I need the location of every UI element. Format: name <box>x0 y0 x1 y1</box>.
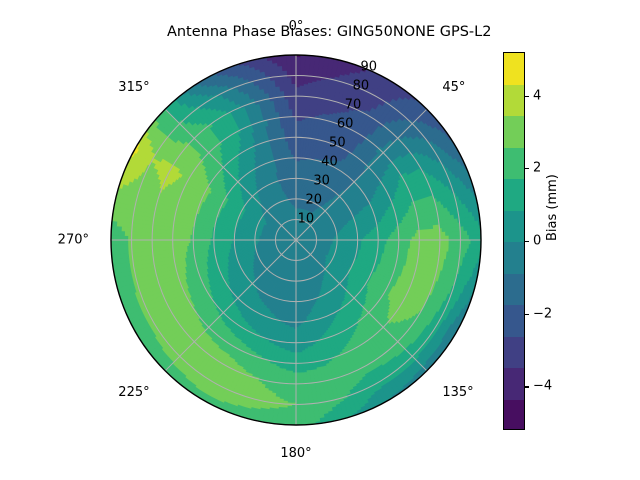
polar-contour-svg <box>110 54 482 426</box>
colorbar-tick <box>525 241 529 242</box>
angular-tick-label-135: 135° <box>442 386 473 399</box>
radial-tick-label-90: 90 <box>361 61 378 74</box>
polar-plot-axes[interactable]: 0°45°90135°180°225°270°315° 102030405060… <box>110 54 482 426</box>
colorbar[interactable]: −4−2024 <box>503 52 525 430</box>
colorbar-band <box>504 211 524 243</box>
colorbar-band <box>504 274 524 306</box>
colorbar-band <box>504 148 524 180</box>
colorbar-gradient <box>503 52 525 430</box>
angular-tick-label-225: 225° <box>118 386 149 399</box>
colorbar-band <box>504 305 524 337</box>
radial-tick-label-70: 70 <box>345 99 362 112</box>
figure-canvas: Antenna Phase Biases: GING50NONE GPS-L2 … <box>0 0 640 480</box>
colorbar-tick <box>525 314 529 315</box>
colorbar-band <box>504 53 524 85</box>
title-right: NONE GPS-L2 <box>393 24 492 40</box>
polar-grid-group <box>111 55 481 425</box>
colorbar-tick-label: 0 <box>533 235 541 248</box>
colorbar-tick <box>525 96 529 97</box>
title-left: Antenna Phase Biases: GING50 <box>167 24 393 40</box>
angular-tick-label-180: 180° <box>280 447 311 460</box>
radial-tick-label-20: 20 <box>305 194 322 207</box>
angular-tick-label-315: 315° <box>118 81 149 94</box>
radial-tick-label-60: 60 <box>337 118 354 131</box>
radial-tick-label-50: 50 <box>329 137 346 150</box>
chart-title: Antenna Phase Biases: GING50NONE GPS-L2 <box>0 8 640 56</box>
radial-tick-label-30: 30 <box>313 175 330 188</box>
colorbar-band <box>504 85 524 117</box>
colorbar-band <box>504 116 524 148</box>
radial-tick-label-40: 40 <box>321 156 338 169</box>
angular-tick-label-0: 0° <box>289 20 304 33</box>
colorbar-tick <box>525 168 529 169</box>
colorbar-tick-label: −4 <box>533 380 552 393</box>
colorbar-axis-label: Bias (mm) <box>546 174 559 241</box>
colorbar-tick <box>525 386 529 387</box>
angular-tick-label-45: 45° <box>442 81 465 94</box>
radial-tick-label-80: 80 <box>353 80 370 93</box>
angular-tick-label-270: 270° <box>58 234 89 247</box>
colorbar-band <box>504 337 524 369</box>
colorbar-band <box>504 242 524 274</box>
colorbar-tick-label: 4 <box>533 89 541 102</box>
colorbar-band <box>504 400 524 431</box>
colorbar-tick-label: −2 <box>533 307 552 320</box>
colorbar-band <box>504 368 524 400</box>
colorbar-tick-label: 2 <box>533 162 541 175</box>
colorbar-band <box>504 179 524 211</box>
radial-tick-label-10: 10 <box>298 213 315 226</box>
